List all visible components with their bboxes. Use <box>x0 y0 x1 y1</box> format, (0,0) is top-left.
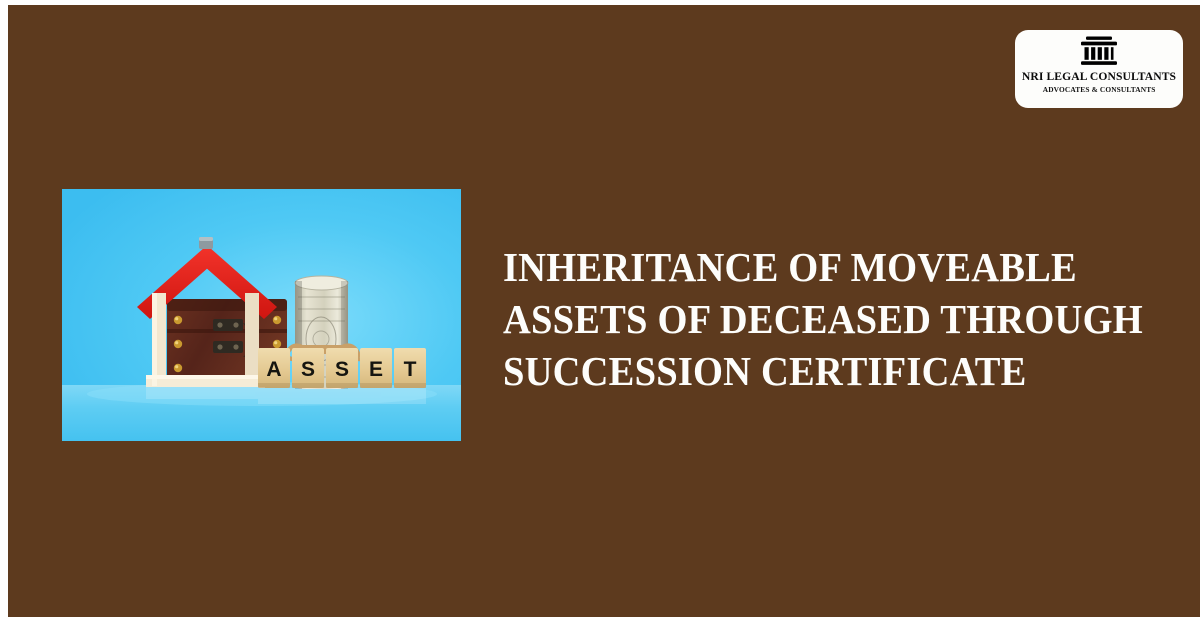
headline-line-2: ASSETS OF DECEASED THROUGH <box>503 293 1105 345</box>
logo-tagline: ADVOCATES & CONSULTANTS <box>1043 86 1156 94</box>
logo-company-name: NRI LEGAL CONSULTANTS <box>1022 71 1176 83</box>
hero-photo: A S S E T <box>62 189 461 441</box>
headline-line-1: INHERITANCE OF MOVEABLE <box>503 241 1105 293</box>
svg-text:A: A <box>266 358 281 381</box>
letter-blocks-icon: A S S E T <box>258 348 426 388</box>
brand-logo-card[interactable]: NRI LEGAL CONSULTANTS ADVOCATES & CONSUL… <box>1015 30 1183 108</box>
svg-text:T: T <box>404 358 417 381</box>
svg-text:S: S <box>301 358 315 381</box>
banner-background: NRI LEGAL CONSULTANTS ADVOCATES & CONSUL… <box>8 5 1200 617</box>
page-title: INHERITANCE OF MOVEABLE ASSETS OF DECEAS… <box>503 241 1143 397</box>
headline-line-3: SUCCESSION CERTIFICATE <box>503 345 1105 397</box>
classical-pillar-icon <box>1076 35 1122 69</box>
svg-text:E: E <box>369 358 383 381</box>
svg-text:S: S <box>335 358 349 381</box>
